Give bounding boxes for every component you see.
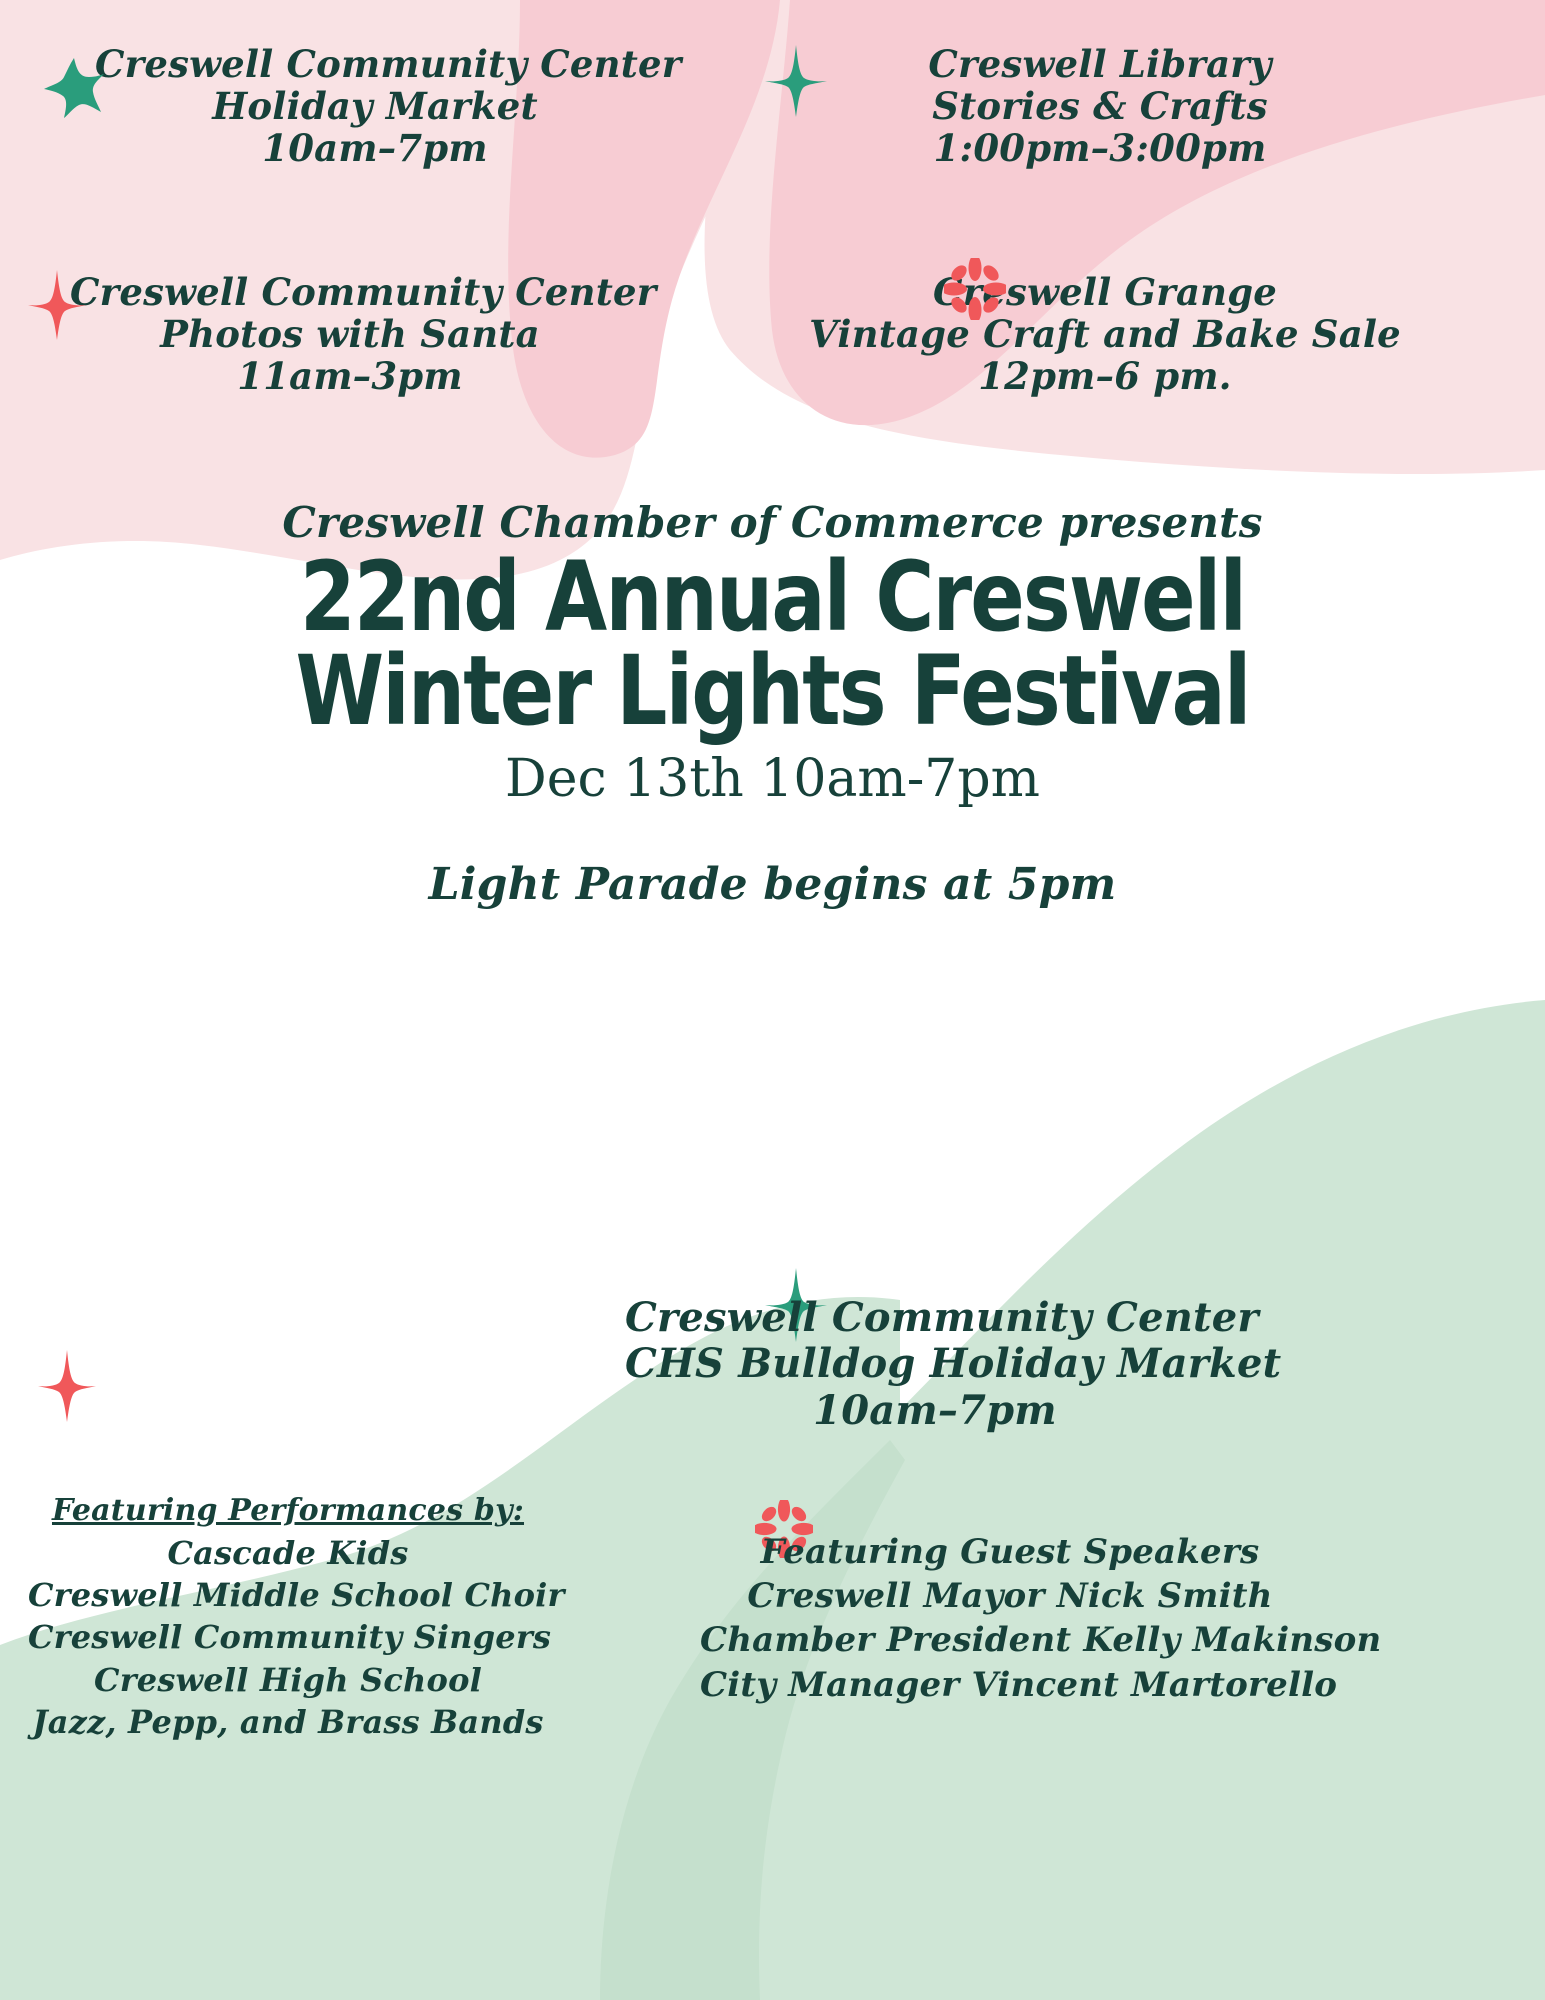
chs-time: 10am–7pm [625,1388,1245,1434]
event-time: 12pm–6 pm. [690,356,1520,398]
presents-line: Creswell Chamber of Commerce presents [0,500,1545,546]
chs-activity: CHS Bulldog Holiday Market [625,1341,1245,1387]
performers-heading: Featuring Performances by: [28,1490,548,1532]
performer-item: Creswell High School [28,1659,548,1701]
sparkle-icon [28,270,86,340]
speakers-block: Featuring Guest Speakers Creswell Mayor … [700,1530,1320,1707]
event-venue: Creswell Grange [690,272,1520,314]
event-activity: Holiday Market [95,86,655,128]
event-time: 10am–7pm [95,128,655,170]
mint-blob-right [600,1000,1545,2000]
festival-date: Dec 13th 10am-7pm [0,744,1545,814]
sparkle-icon [765,45,827,117]
performer-item: Creswell Community Singers [28,1616,548,1658]
event-activity: Vintage Craft and Bake Sale [690,314,1520,356]
mint-overlap [600,1440,905,2000]
event-venue: Creswell Community Center [70,272,630,314]
performers-block: Featuring Performances by: Cascade Kids … [28,1490,548,1743]
speaker-item: City Manager Vincent Martorello [700,1663,1320,1707]
burst-icon [944,258,1006,320]
event-activity: Stories & Crafts [820,86,1380,128]
parade-line: Light Parade begins at 5pm [0,859,1545,910]
poster-canvas: Creswell Community Center Holiday Market… [0,0,1545,2000]
event-community-center-photos-santa: Creswell Community Center Photos with Sa… [70,272,630,397]
chs-bulldog-market-block: Creswell Community Center CHS Bulldog Ho… [625,1295,1245,1434]
star-icon [42,55,106,119]
event-venue: Creswell Community Center [95,44,655,86]
speaker-item: Chamber President Kelly Makinson [700,1618,1320,1662]
performer-item: Cascade Kids [28,1532,548,1574]
event-library-stories-crafts: Creswell Library Stories & Crafts 1:00pm… [820,44,1380,169]
event-venue: Creswell Library [820,44,1380,86]
sparkle-icon [38,1350,96,1422]
event-time: 1:00pm–3:00pm [820,128,1380,170]
main-title-block: Creswell Chamber of Commerce presents 22… [0,500,1545,910]
performer-item: Jazz, Pepp, and Brass Bands [28,1701,548,1743]
headline-line-2: Winter Lights Festival [54,644,1491,738]
headline-line-1: 22nd Annual Creswell [54,550,1491,644]
speakers-heading: Featuring Guest Speakers [700,1530,1320,1574]
event-time: 11am–3pm [70,356,630,398]
chs-venue: Creswell Community Center [625,1295,1245,1341]
event-community-center-holiday-market: Creswell Community Center Holiday Market… [95,44,655,169]
performer-item: Creswell Middle School Choir [28,1574,548,1616]
event-activity: Photos with Santa [70,314,630,356]
event-grange-vintage-craft-bake-sale: Creswell Grange Vintage Craft and Bake S… [690,272,1520,397]
speaker-item: Creswell Mayor Nick Smith [700,1574,1320,1618]
